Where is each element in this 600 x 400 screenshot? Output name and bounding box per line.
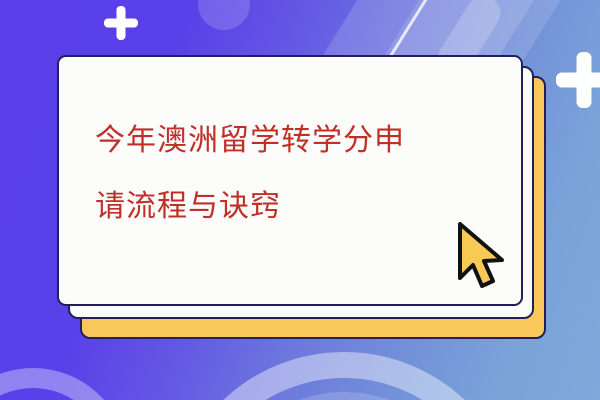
circle-decoration-top-left bbox=[198, 0, 250, 30]
concentric-ring-left bbox=[0, 368, 128, 400]
headline-line-2: 请流程与诀窍 bbox=[95, 174, 495, 240]
headline-line-1: 今年澳洲留学转学分申 bbox=[95, 108, 495, 174]
plus-icon-right bbox=[556, 52, 600, 108]
concentric-ring-outer bbox=[168, 352, 520, 400]
mouse-cursor-icon bbox=[452, 220, 516, 292]
poster-canvas: 今年澳洲留学转学分申 请流程与诀窍 bbox=[0, 0, 600, 400]
concentric-ring-inner bbox=[212, 392, 476, 400]
headline-block: 今年澳洲留学转学分申 请流程与诀窍 bbox=[95, 108, 495, 240]
plus-icon-top-left bbox=[104, 6, 138, 40]
